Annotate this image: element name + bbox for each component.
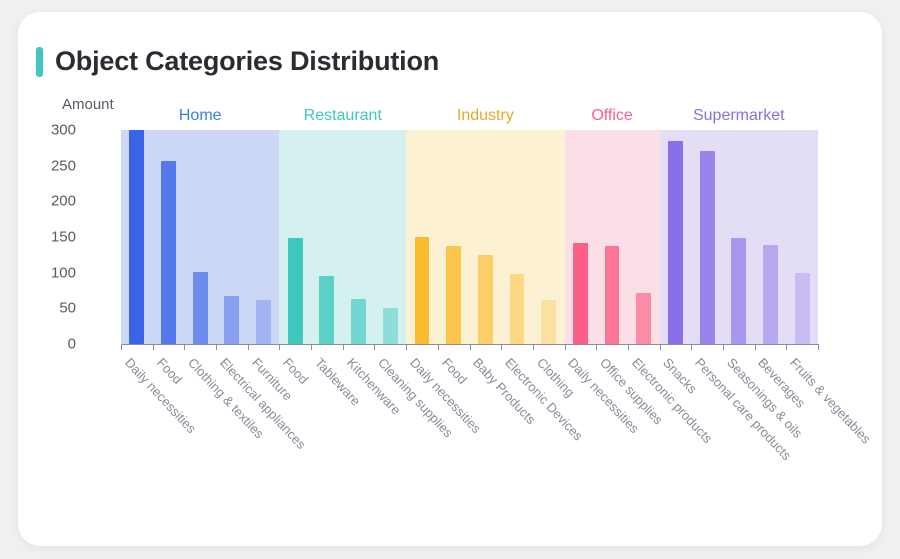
bar[interactable] xyxy=(573,243,588,344)
bar[interactable] xyxy=(668,141,683,344)
x-tick-mark xyxy=(343,344,344,350)
bar-chart: Amount 050100150200250300 Daily necessit… xyxy=(18,12,882,546)
legend-label-industry: Industry xyxy=(457,107,514,125)
x-tick-mark xyxy=(786,344,787,350)
bar[interactable] xyxy=(731,238,746,344)
x-tick-mark xyxy=(628,344,629,350)
bar[interactable] xyxy=(478,255,493,344)
chart-card: Object Categories Distribution Amount 05… xyxy=(18,12,882,546)
x-tick-mark xyxy=(121,344,122,350)
bar[interactable] xyxy=(700,151,715,344)
x-tick-mark xyxy=(406,344,407,350)
x-tick-mark xyxy=(596,344,597,350)
bar[interactable] xyxy=(763,245,778,344)
bar[interactable] xyxy=(288,238,303,344)
bar[interactable] xyxy=(319,276,334,344)
y-tick-label: 250 xyxy=(18,157,76,174)
y-axis-title: Amount xyxy=(62,96,114,113)
bar[interactable] xyxy=(636,293,651,344)
x-tick-mark xyxy=(184,344,185,350)
bar[interactable] xyxy=(510,274,525,344)
x-tick-mark xyxy=(533,344,534,350)
bar[interactable] xyxy=(795,273,810,344)
y-tick-label: 50 xyxy=(18,300,76,317)
bar[interactable] xyxy=(446,246,461,344)
bar[interactable] xyxy=(193,272,208,344)
y-tick-label: 100 xyxy=(18,264,76,281)
x-tick-mark xyxy=(279,344,280,350)
x-tick-mark xyxy=(723,344,724,350)
x-tick-mark xyxy=(755,344,756,350)
bar[interactable] xyxy=(161,161,176,344)
bar[interactable] xyxy=(541,300,556,344)
bar[interactable] xyxy=(605,246,620,344)
legend-label-office: Office xyxy=(591,107,633,125)
y-tick-label: 300 xyxy=(18,122,76,139)
x-tick-mark xyxy=(374,344,375,350)
x-tick-mark xyxy=(660,344,661,350)
bar[interactable] xyxy=(129,130,144,344)
legend-label-supermarket: Supermarket xyxy=(693,107,785,125)
x-tick-mark xyxy=(216,344,217,350)
x-tick-mark xyxy=(248,344,249,350)
x-tick-mark xyxy=(691,344,692,350)
bar[interactable] xyxy=(351,299,366,344)
x-tick-mark xyxy=(501,344,502,350)
bar[interactable] xyxy=(383,308,398,344)
x-tick-mark xyxy=(153,344,154,350)
x-tick-mark xyxy=(311,344,312,350)
x-tick-mark xyxy=(470,344,471,350)
bar[interactable] xyxy=(415,237,430,344)
x-tick-mark xyxy=(438,344,439,350)
y-tick-label: 0 xyxy=(18,336,76,353)
x-tick-mark xyxy=(818,344,819,350)
bar[interactable] xyxy=(256,300,271,344)
y-tick-label: 200 xyxy=(18,193,76,210)
y-tick-label: 150 xyxy=(18,229,76,246)
legend-label-restaurant: Restaurant xyxy=(304,107,382,125)
plot-area xyxy=(121,130,818,344)
x-tick-mark xyxy=(565,344,566,350)
legend-label-home: Home xyxy=(179,107,222,125)
bar[interactable] xyxy=(224,296,239,344)
